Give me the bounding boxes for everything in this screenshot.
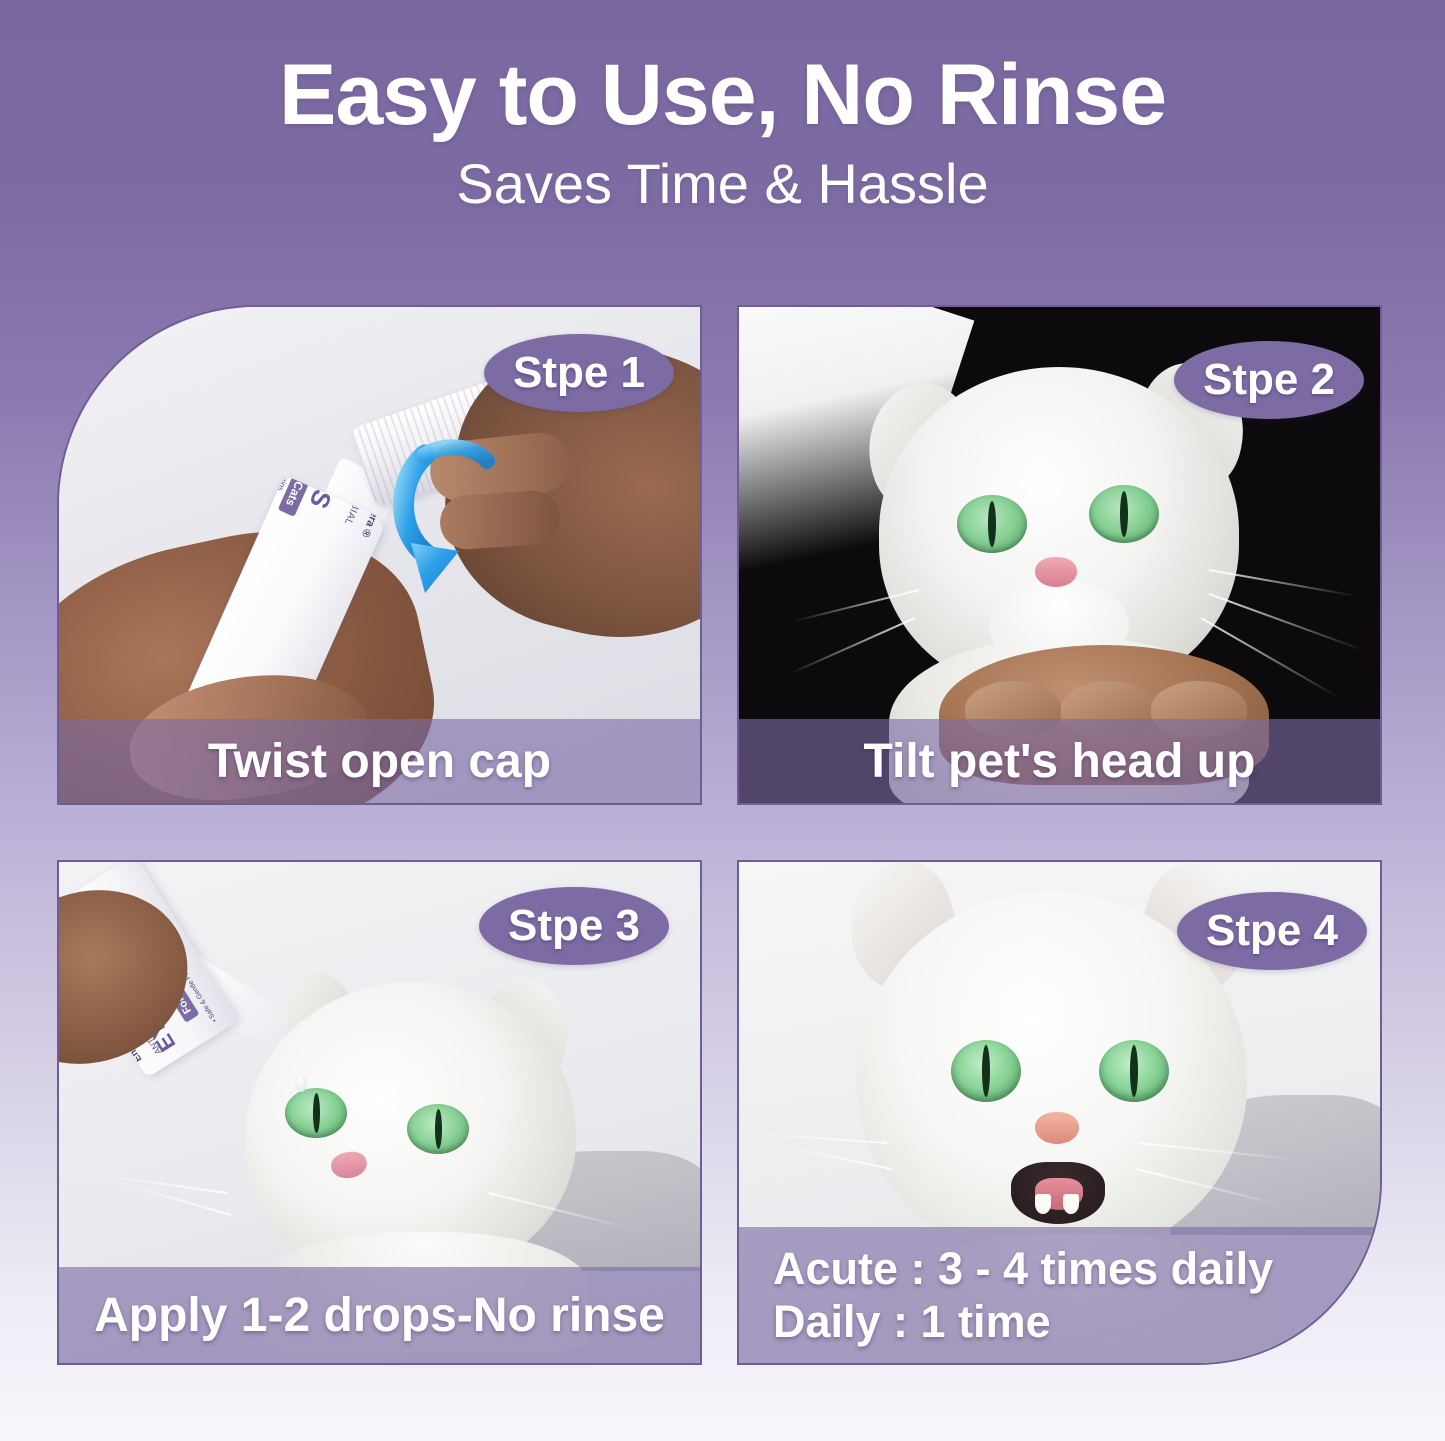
- cat-eye-right-icon: [1089, 485, 1159, 543]
- step-panel-3[interactable]: Enredadera ® ANTIMICROBIAL EYE DROPS For…: [57, 860, 702, 1365]
- step-badge-1: Stpe 1: [484, 334, 674, 412]
- step-panel-4[interactable]: Stpe 4 Acute : 3 - 4 times daily Daily :…: [737, 860, 1382, 1365]
- step-caption-2: Tilt pet's head up: [739, 719, 1380, 803]
- step-caption-4: Acute : 3 - 4 times daily Daily : 1 time: [739, 1227, 1380, 1363]
- step-caption-3: Apply 1-2 drops-No rinse: [59, 1267, 700, 1363]
- dosage-daily-line: Daily : 1 time: [773, 1295, 1051, 1348]
- step-panel-1[interactable]: Enredadera ® ANTIMICROBIAL EYE DROPS For…: [57, 305, 702, 805]
- step-panel-2[interactable]: Stpe 2 Tilt pet's head up: [737, 305, 1382, 805]
- step-caption-1: Twist open cap: [59, 719, 700, 803]
- cat-eye-right-icon: [1099, 1040, 1169, 1102]
- page-subtitle: Saves Time & Hassle: [0, 156, 1445, 212]
- cat-nose-icon: [1035, 557, 1077, 587]
- infographic-poster: Easy to Use, No Rinse Saves Time & Hassl…: [0, 0, 1445, 1441]
- step-badge-3: Stpe 3: [479, 887, 669, 965]
- step-badge-4: Stpe 4: [1177, 892, 1367, 970]
- cat-eye-left-icon: [285, 1088, 347, 1138]
- step-badge-2: Stpe 2: [1174, 341, 1364, 419]
- dosage-acute-line: Acute : 3 - 4 times daily: [773, 1242, 1273, 1295]
- cat-eye-left-icon: [951, 1040, 1021, 1102]
- page-title: Easy to Use, No Rinse: [0, 52, 1445, 138]
- cat-eye-right-icon: [407, 1104, 469, 1154]
- cat-tooth-icon: [1063, 1194, 1079, 1214]
- steps-grid: Enredadera ® ANTIMICROBIAL EYE DROPS For…: [57, 305, 1382, 1410]
- liquid-drop-icon: [295, 1074, 307, 1092]
- cat-nose-icon: [1035, 1112, 1079, 1144]
- cat-tooth-icon: [1035, 1194, 1051, 1214]
- rotate-arrow-icon: [381, 427, 531, 607]
- header: Easy to Use, No Rinse Saves Time & Hassl…: [0, 0, 1445, 212]
- cat-eye-left-icon: [957, 495, 1027, 553]
